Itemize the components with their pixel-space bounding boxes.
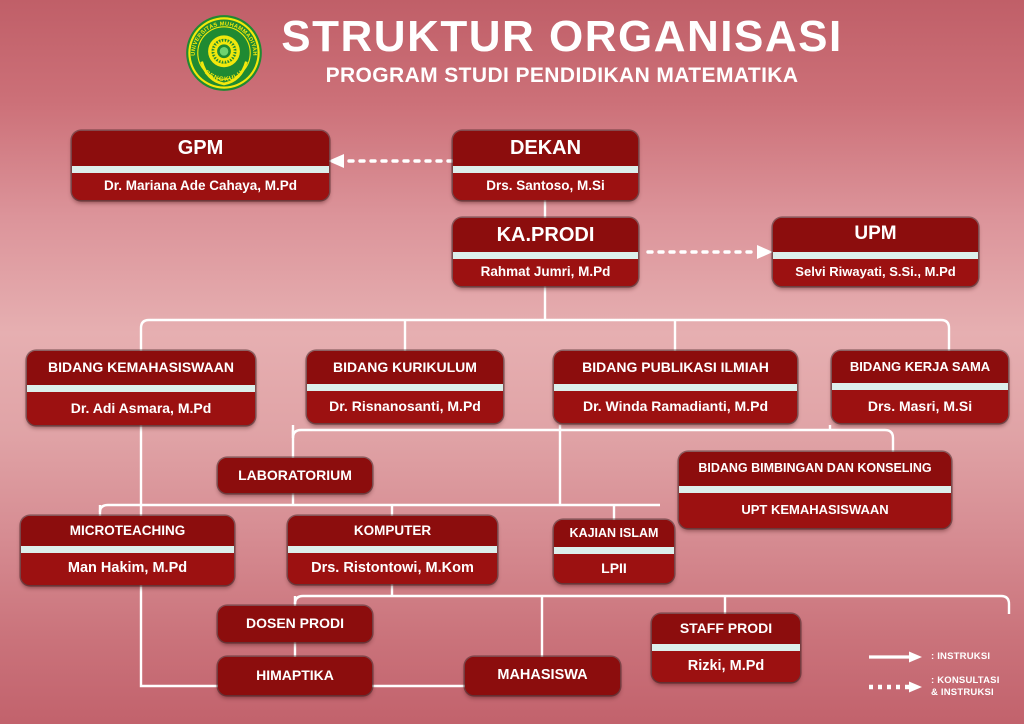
node-gpm-name: Dr. Mariana Ade Cahaya, M.Pd bbox=[72, 173, 329, 200]
node-upm-name: Selvi Riwayati, S.Si., M.Pd bbox=[773, 259, 978, 286]
node-bidang-kerja-sama-divider bbox=[832, 383, 1008, 390]
node-bidang-kemahasiswaan-divider bbox=[27, 385, 255, 392]
node-kaprodi-name: Rahmat Jumri, M.Pd bbox=[453, 259, 638, 286]
node-bidang-kemahasiswaan[interactable]: BIDANG KEMAHASISWAAN Dr. Adi Asmara, M.P… bbox=[27, 351, 255, 425]
wire-bus-505 bbox=[100, 505, 660, 512]
node-komputer[interactable]: KOMPUTER Drs. Ristontowi, M.Kom bbox=[288, 516, 497, 584]
node-komputer-name: Drs. Ristontowi, M.Kom bbox=[288, 553, 497, 584]
node-staff-prodi[interactable]: STAFF PRODI Rizki, M.Pd bbox=[652, 614, 800, 682]
node-dosen-prodi-title: DOSEN PRODI bbox=[218, 606, 372, 642]
node-kajian-islam-divider bbox=[554, 547, 674, 554]
node-bidang-kurikulum-divider bbox=[307, 384, 503, 391]
node-mahasiswa[interactable]: MAHASISWA bbox=[465, 657, 620, 695]
node-dekan[interactable]: DEKAN Drs. Santoso, M.Si bbox=[453, 131, 638, 200]
node-bidang-publikasi-ilmiah-title: BIDANG PUBLIKASI ILMIAH bbox=[554, 351, 797, 384]
org-chart-canvas: UNIVERSITAS MUHAMMADIYAH bbox=[0, 0, 1024, 724]
node-bidang-kerja-sama-name: Drs. Masri, M.Si bbox=[832, 390, 1008, 423]
wire-dekan-gpm-dotted bbox=[328, 154, 452, 168]
node-upm-title: UPM bbox=[773, 218, 978, 252]
node-bidang-kurikulum-title: BIDANG KURIKULUM bbox=[307, 351, 503, 384]
node-staff-prodi-divider bbox=[652, 644, 800, 651]
node-microteaching-title: MICROTEACHING bbox=[21, 516, 234, 546]
node-bidang-kemahasiswaan-name: Dr. Adi Asmara, M.Pd bbox=[27, 392, 255, 426]
node-kaprodi-title: KA.PRODI bbox=[453, 218, 638, 252]
node-kajian-islam-name: LPII bbox=[554, 554, 674, 583]
node-dosen-prodi[interactable]: DOSEN PRODI bbox=[218, 606, 372, 642]
solid-arrow-icon bbox=[868, 650, 924, 664]
node-laboratorium-title: LABORATORIUM bbox=[218, 458, 372, 493]
node-bidang-bimbingan-konseling-title: BIDANG BIMBINGAN DAN KONSELING bbox=[679, 452, 951, 486]
node-upm[interactable]: UPM Selvi Riwayati, S.Si., M.Pd bbox=[773, 218, 978, 286]
legend-row-instruksi: : INSTRUKSI bbox=[868, 650, 1018, 664]
node-staff-prodi-name: Rizki, M.Pd bbox=[652, 651, 800, 682]
wire-bus-430 bbox=[293, 425, 893, 452]
node-bidang-kemahasiswaan-title: BIDANG KEMAHASISWAAN bbox=[27, 351, 255, 385]
node-bidang-bimbingan-konseling-name: UPT KEMAHASISWAAN bbox=[679, 493, 951, 528]
node-komputer-title: KOMPUTER bbox=[288, 516, 497, 546]
node-gpm[interactable]: GPM Dr. Mariana Ade Cahaya, M.Pd bbox=[72, 131, 329, 200]
node-laboratorium[interactable]: LABORATORIUM bbox=[218, 458, 372, 493]
node-bidang-publikasi-ilmiah[interactable]: BIDANG PUBLIKASI ILMIAH Dr. Winda Ramadi… bbox=[554, 351, 797, 423]
legend-row-konsultasi: : KONSULTASI & INSTRUKSI bbox=[868, 675, 1018, 699]
node-himaptika[interactable]: HIMAPTIKA bbox=[218, 657, 372, 695]
node-kaprodi-divider bbox=[453, 252, 638, 259]
wire-bus-596 bbox=[295, 596, 1009, 614]
node-himaptika-title: HIMAPTIKA bbox=[218, 657, 372, 695]
wire-kaprodi-upm-dotted bbox=[648, 245, 773, 259]
node-bidang-kurikulum[interactable]: BIDANG KURIKULUM Dr. Risnanosanti, M.Pd bbox=[307, 351, 503, 423]
node-bidang-bimbingan-konseling[interactable]: BIDANG BIMBINGAN DAN KONSELING UPT KEMAH… bbox=[679, 452, 951, 528]
node-upm-divider bbox=[773, 252, 978, 259]
legend-label-instruksi: : INSTRUKSI bbox=[931, 651, 990, 663]
node-gpm-title: GPM bbox=[72, 131, 329, 166]
node-dekan-divider bbox=[453, 166, 638, 173]
node-kaprodi[interactable]: KA.PRODI Rahmat Jumri, M.Pd bbox=[453, 218, 638, 286]
wire-bidang-bus bbox=[141, 320, 949, 352]
node-microteaching[interactable]: MICROTEACHING Man Hakim, M.Pd bbox=[21, 516, 234, 585]
node-mahasiswa-title: MAHASISWA bbox=[465, 657, 620, 695]
legend: : INSTRUKSI : KONSULTASI & INSTRUKSI bbox=[868, 650, 1018, 710]
node-gpm-divider bbox=[72, 166, 329, 173]
node-bidang-publikasi-ilmiah-divider bbox=[554, 384, 797, 391]
node-microteaching-divider bbox=[21, 546, 234, 553]
legend-label-konsultasi: : KONSULTASI & INSTRUKSI bbox=[931, 675, 1000, 699]
node-microteaching-name: Man Hakim, M.Pd bbox=[21, 553, 234, 585]
node-bidang-publikasi-ilmiah-name: Dr. Winda Ramadianti, M.Pd bbox=[554, 391, 797, 424]
node-bidang-kurikulum-name: Dr. Risnanosanti, M.Pd bbox=[307, 391, 503, 424]
node-bidang-kerja-sama-title: BIDANG KERJA SAMA bbox=[832, 351, 1008, 383]
node-staff-prodi-title: STAFF PRODI bbox=[652, 614, 800, 644]
node-bidang-kerja-sama[interactable]: BIDANG KERJA SAMA Drs. Masri, M.Si bbox=[832, 351, 1008, 423]
dotted-arrow-icon bbox=[868, 680, 924, 694]
node-kajian-islam-title: KAJIAN ISLAM bbox=[554, 520, 674, 547]
node-dekan-name: Drs. Santoso, M.Si bbox=[453, 173, 638, 200]
node-bidang-bimbingan-konseling-divider bbox=[679, 486, 951, 493]
node-dekan-title: DEKAN bbox=[453, 131, 638, 166]
node-kajian-islam[interactable]: KAJIAN ISLAM LPII bbox=[554, 520, 674, 583]
node-komputer-divider bbox=[288, 546, 497, 553]
